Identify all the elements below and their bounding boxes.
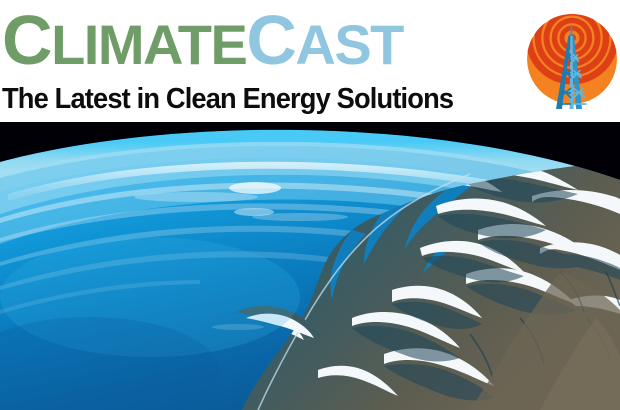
climatecast-masthead-page: CLIMATECAST The Latest in Clean Energy S… [0, 0, 620, 410]
earth-from-space-photo [0, 122, 620, 410]
wordmark-climate-rest: LIMATE [51, 13, 246, 76]
globe-surface [0, 122, 620, 410]
wordmark-cast-rest: AST [295, 13, 403, 76]
masthead-header: CLIMATECAST The Latest in Clean Energy S… [0, 0, 620, 122]
wordmark-cast-initial: C [246, 1, 295, 79]
wordmark-climate-initial: C [2, 1, 51, 79]
broadcast-tower-icon [526, 8, 618, 114]
masthead-tagline: The Latest in Clean Energy Solutions [2, 82, 453, 116]
brand-wordmark: CLIMATECAST [2, 4, 403, 76]
brand-block: CLIMATECAST The Latest in Clean Energy S… [2, 4, 527, 120]
